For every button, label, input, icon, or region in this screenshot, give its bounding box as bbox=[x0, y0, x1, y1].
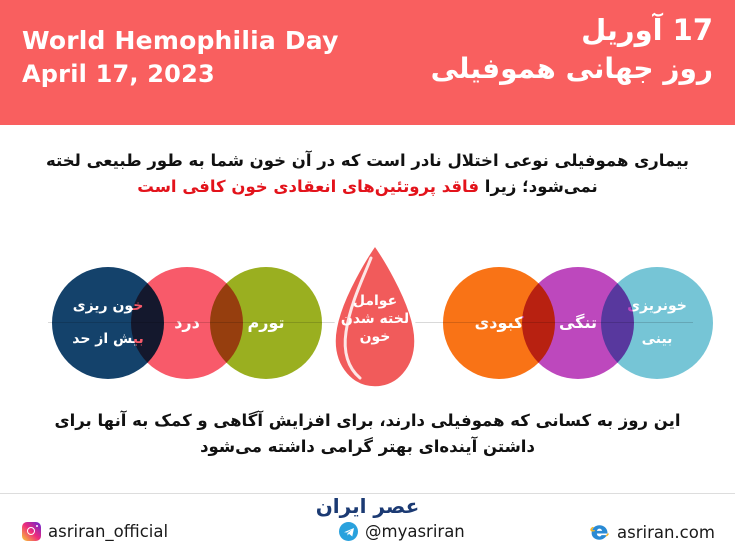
internet-explorer-icon bbox=[589, 522, 610, 543]
symptom-bubble-pain-label: درد bbox=[170, 314, 204, 333]
symptoms-diagram: خون ریزیبیش از حد درد تورم عوامل لخته شد… bbox=[0, 245, 735, 400]
website-url: asriran.com bbox=[617, 523, 715, 542]
instagram-icon bbox=[22, 522, 41, 541]
header-persian-date: 17 آوریل bbox=[431, 12, 713, 49]
symptom-label-line2: بیش از حد bbox=[68, 331, 148, 348]
symptom-label-line1: خون ریزی bbox=[68, 298, 148, 315]
symptom-bubble-excessive-bleeding: خون ریزیبیش از حد bbox=[52, 267, 164, 379]
intro-text-highlight: فاقد پروتئین‌های انعقادی خون کافی است bbox=[137, 177, 479, 196]
instagram-handle: asriran_official bbox=[48, 522, 168, 541]
closing-paragraph: این روز به کسانی که هموفیلی دارند، برای … bbox=[45, 408, 690, 461]
telegram-link[interactable]: @myasriran bbox=[339, 522, 465, 541]
symptom-bubble-swelling-label: تورم bbox=[244, 314, 289, 333]
header-english-title: World Hemophilia Day April 17, 2023 bbox=[22, 26, 339, 89]
header-persian-title: 17 آوریل روز جهانی هموفیلی bbox=[431, 12, 713, 87]
blood-drop-graphic: عوامل لخته شدن خون bbox=[320, 240, 430, 400]
instagram-link[interactable]: asriran_official bbox=[22, 522, 168, 541]
footer: عصر ایران asriran_official @myasriran a bbox=[0, 494, 735, 555]
header-english-line1: World Hemophilia Day bbox=[22, 26, 339, 57]
header-persian-line2: روز جهانی هموفیلی bbox=[431, 51, 713, 87]
telegram-icon bbox=[339, 522, 358, 541]
telegram-handle: @myasriran bbox=[365, 522, 465, 541]
symptom-bubble-excessive-bleeding-label: خون ریزیبیش از حد bbox=[64, 298, 152, 348]
brand-logo: عصر ایران bbox=[0, 494, 735, 518]
infographic-poster: World Hemophilia Day April 17, 2023 17 آ… bbox=[0, 0, 735, 555]
symptom-bubble-bruising-label: کبودی bbox=[471, 314, 528, 333]
website-link[interactable]: asriran.com bbox=[589, 522, 715, 543]
header-banner: World Hemophilia Day April 17, 2023 17 آ… bbox=[0, 0, 735, 125]
symptom-label-line1: خونریزی bbox=[623, 298, 691, 315]
header-english-date: April 17, 2023 bbox=[22, 60, 339, 89]
intro-paragraph: بیماری هموفیلی نوعی اختلال نادر است که د… bbox=[30, 148, 705, 199]
symptom-label-line2: بینی bbox=[623, 331, 691, 348]
symptom-bubble-tightness-label: تنگی bbox=[555, 314, 601, 333]
symptom-bubble-bruising: کبودی bbox=[443, 267, 555, 379]
